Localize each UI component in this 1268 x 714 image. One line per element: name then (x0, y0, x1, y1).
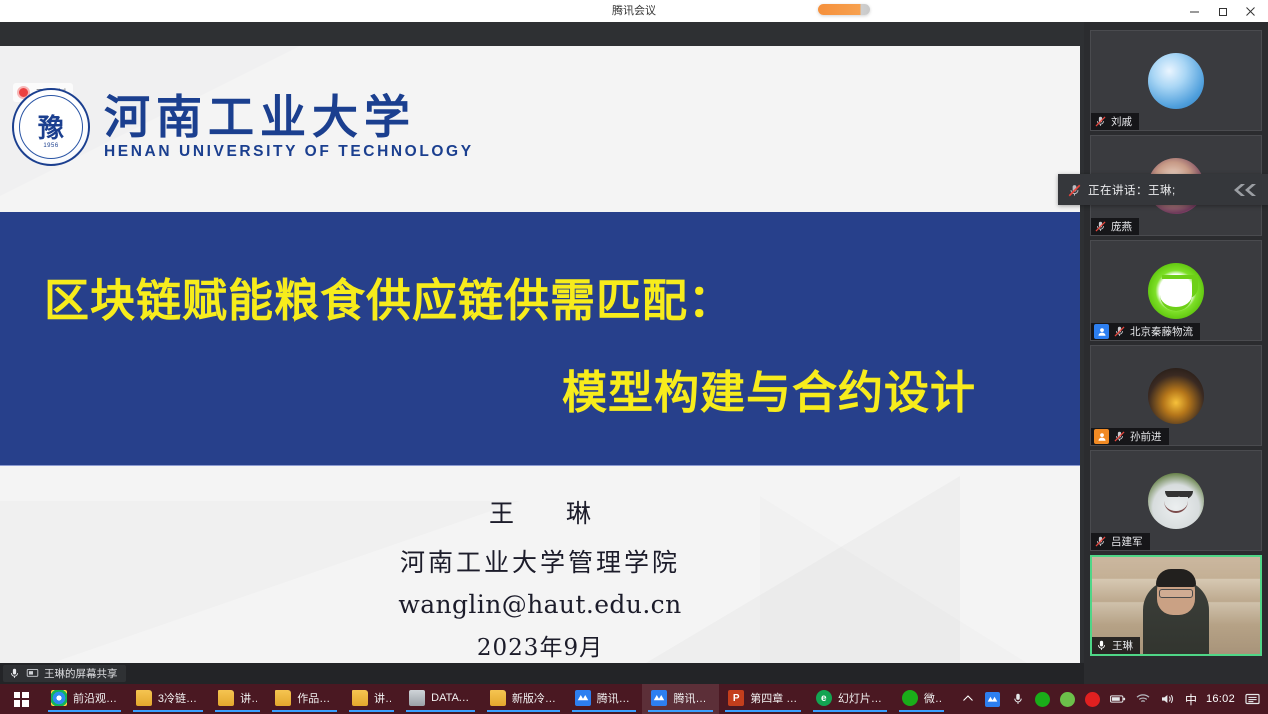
folder-icon (352, 690, 368, 706)
participant-name: 王琳 (1112, 638, 1133, 653)
taskbar-item-label: 3冷链物流 (158, 690, 200, 706)
participant-name: 刘戚 (1111, 114, 1132, 129)
participant-tile[interactable]: 北京秦藤物流 (1090, 240, 1262, 341)
participant-name-chip: 孙前进 (1091, 428, 1169, 445)
minimize-icon[interactable] (1180, 0, 1208, 22)
taskbar-item-label: 幻灯片 1 ... (838, 690, 884, 706)
university-seal-icon: 豫 1956 (12, 88, 90, 166)
folder-icon (490, 690, 506, 706)
microphone-icon[interactable] (1010, 691, 1026, 707)
participant-tile[interactable]: 刘戚 (1090, 30, 1262, 131)
chevron-up-icon[interactable] (960, 691, 976, 707)
window-controls (1180, 0, 1264, 22)
seal-mark: 豫 (38, 108, 64, 145)
microphone-muted-icon (1113, 325, 1126, 338)
presentation-slide: 云录制 豫 1956 河南工业大学 HENAN UNIVERSITY OF TE… (0, 46, 1080, 685)
system-tray: 中 16:02 (950, 684, 1268, 714)
participant-name: 庞燕 (1111, 219, 1132, 234)
wechat-icon (902, 690, 918, 706)
taskbar-item-label: 讲座 (374, 690, 391, 706)
avatar (1148, 473, 1204, 529)
windows-start-button[interactable] (0, 684, 42, 714)
avatar (1148, 263, 1204, 319)
microphone-muted-icon (1094, 220, 1107, 233)
taskbar-items: 前沿观点... 3冷链物流 讲座 作品汇总 讲座 DATA (D:) (42, 684, 950, 714)
notification-icon[interactable] (1244, 691, 1260, 707)
windows-logo-icon (14, 692, 29, 707)
taskbar-item-wechat[interactable]: 微信 (893, 684, 950, 714)
microphone-muted-icon (1094, 115, 1107, 128)
microphone-muted-icon (1094, 535, 1107, 548)
microphone-muted-icon (1067, 183, 1080, 196)
participant-name: 孙前进 (1130, 429, 1162, 444)
floating-toolbar-pill[interactable] (818, 4, 870, 15)
screen-share-status-bar: 王琳的屏幕共享 (0, 663, 1084, 684)
windows-taskbar[interactable]: 前沿观点... 3冷链物流 讲座 作品汇总 讲座 DATA (D:) (0, 684, 1268, 714)
close-icon[interactable] (1236, 0, 1264, 22)
participant-name-chip: 北京秦藤物流 (1091, 323, 1200, 340)
drive-icon (409, 690, 425, 706)
taskbar-item-label: 讲座 (240, 690, 257, 706)
taskbar-item-folder[interactable]: 讲座 (343, 684, 400, 714)
university-name-cn: 河南工业大学 (104, 93, 474, 141)
participant-name: 吕建军 (1111, 534, 1143, 549)
monitor-icon (26, 667, 39, 680)
speaking-indicator-tooltip: 正在讲话：王琳; (1058, 174, 1268, 205)
author-name: 王 琳 (0, 494, 1080, 530)
slide-title-band: 区块链赋能粮食供应链供需匹配： 模型构建与合约设计 (0, 212, 1080, 466)
author-date: 2023年9月 (0, 628, 1080, 662)
collapse-chevrons-icon[interactable] (1230, 183, 1260, 197)
cohost-badge-icon (1094, 324, 1109, 339)
folder-icon (218, 690, 234, 706)
wechat-icon[interactable] (1035, 691, 1051, 707)
slide-title-line-2: 模型构建与合约设计 (562, 356, 976, 421)
slide-author-block: 王 琳 河南工业大学管理学院 wanglin@haut.edu.cn 2023年… (0, 494, 1080, 662)
person-hair (1156, 569, 1196, 587)
microphone-icon (8, 667, 21, 680)
taskbar-item-folder[interactable]: 讲座 (209, 684, 266, 714)
chrome-icon (51, 690, 67, 706)
taskbar-item-label: DATA (D:) (431, 692, 472, 704)
taskbar-item-label: 腾讯会议 (597, 690, 634, 706)
taskbar-item-label: 第四章 农... (750, 690, 798, 706)
person-glasses (1159, 589, 1193, 598)
participant-tile-active-speaker[interactable]: 王琳 (1090, 555, 1262, 656)
slide-title-line-1: 区块链赋能粮食供应链供需匹配： (44, 264, 734, 329)
participant-name-chip: 王琳 (1092, 637, 1140, 654)
participant-name: 北京秦藤物流 (1130, 324, 1193, 339)
taskbar-item-tencent-meeting[interactable]: 腾讯会议 (566, 684, 643, 714)
taskbar-item-folder[interactable]: 新版冷库... (481, 684, 566, 714)
battery-icon[interactable] (1110, 691, 1126, 707)
powerpoint-icon: P (728, 690, 744, 706)
participant-tile[interactable]: 吕建军 (1090, 450, 1262, 551)
taskbar-item-label: 腾讯会议 (673, 690, 710, 706)
window-title: 腾讯会议 (0, 0, 1268, 22)
shared-content-stage: 云录制 豫 1956 河南工业大学 HENAN UNIVERSITY OF TE… (0, 22, 1084, 684)
author-organization: 河南工业大学管理学院 (0, 543, 1080, 579)
slideshow-icon: e (816, 690, 832, 706)
volume-icon[interactable] (1160, 691, 1176, 707)
window-titlebar: 腾讯会议 (0, 0, 1268, 22)
taskbar-item-label: 新版冷库... (512, 690, 557, 706)
university-logo: 豫 1956 河南工业大学 HENAN UNIVERSITY OF TECHNO… (12, 88, 474, 166)
participant-rail[interactable]: 刘戚 庞燕 (1084, 22, 1268, 684)
taskbar-item-label: 前沿观点... (73, 690, 118, 706)
screen-share-label: 王琳的屏幕共享 (44, 666, 118, 681)
taskbar-item-folder[interactable]: 作品汇总 (266, 684, 343, 714)
participant-name-chip: 庞燕 (1091, 218, 1139, 235)
tencent-meeting-icon (651, 690, 667, 706)
folder-icon (275, 690, 291, 706)
screen: 腾讯会议 (0, 0, 1268, 714)
taskbar-item-label: 作品汇总 (297, 690, 334, 706)
host-badge-icon (1094, 429, 1109, 444)
taskbar-item-drive[interactable]: DATA (D:) (400, 684, 481, 714)
sync-icon[interactable] (1060, 691, 1076, 707)
tencent-meeting-icon[interactable] (985, 691, 1001, 707)
speaking-label: 正在讲话：王琳; (1088, 182, 1176, 198)
taskbar-item-slideshow[interactable]: e 幻灯片 1 ... (807, 684, 893, 714)
participant-tile[interactable]: 孙前进 (1090, 345, 1262, 446)
seal-year: 1956 (14, 143, 88, 149)
taskbar-item-label: 微信 (924, 690, 941, 706)
folder-icon (136, 690, 152, 706)
tencent-meeting-icon (575, 690, 591, 706)
taskbar-item-chrome[interactable]: 前沿观点... (42, 684, 127, 714)
taskbar-item-tencent-meeting-active[interactable]: 腾讯会议 (642, 684, 719, 714)
participant-name-chip: 吕建军 (1091, 533, 1150, 550)
university-name-en: HENAN UNIVERSITY OF TECHNOLOGY (104, 143, 474, 161)
screen-share-chip: 王琳的屏幕共享 (3, 665, 126, 682)
taskbar-item-powerpoint[interactable]: P 第四章 农... (719, 684, 807, 714)
university-name-block: 河南工业大学 HENAN UNIVERSITY OF TECHNOLOGY (104, 93, 474, 160)
wifi-icon[interactable] (1135, 691, 1151, 707)
microphone-active-icon (1095, 639, 1108, 652)
taskbar-clock[interactable]: 16:02 (1206, 693, 1235, 705)
avatar (1148, 53, 1204, 109)
author-email: wanglin@haut.edu.cn (0, 590, 1080, 619)
music-icon[interactable] (1085, 691, 1101, 707)
maximize-icon[interactable] (1208, 0, 1236, 22)
participant-name-chip: 刘戚 (1091, 113, 1139, 130)
ime-indicator[interactable]: 中 (1185, 691, 1197, 708)
avatar (1148, 368, 1204, 424)
taskbar-item-folder[interactable]: 3冷链物流 (127, 684, 209, 714)
microphone-muted-icon (1113, 430, 1126, 443)
